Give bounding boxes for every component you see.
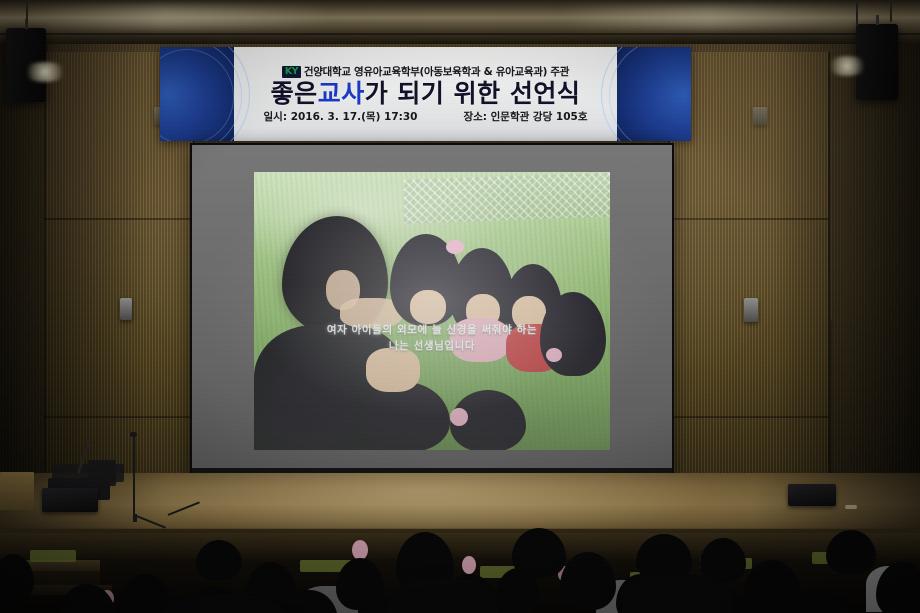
speaker-light-left-icon <box>22 62 68 82</box>
ky-logo-icon: KY <box>282 66 301 78</box>
banner-date: 일시: 2016. 3. 17.(목) 17:30 <box>264 109 418 124</box>
ceiling-seam <box>0 33 920 35</box>
mic-stand-pole <box>133 437 135 515</box>
audience-shoulders-3 <box>622 574 732 613</box>
mic-head-icon <box>130 432 137 437</box>
wall-mounted-box-left-icon <box>120 298 132 320</box>
balloon-2 <box>462 556 476 574</box>
audience-head-1 <box>0 554 34 602</box>
audience-head-5 <box>196 540 242 580</box>
audience-head-18 <box>58 584 116 613</box>
event-banner: KY 건양대학교 영유아교육학부(아동보육학과 & 유아교육과) 주관 좋은교사… <box>160 47 691 141</box>
projection-screen: 여자 아이들의 외모에 늘 신경을 써줘야 하는 나는 선생님입니다 <box>190 143 674 479</box>
banner-place: 장소: 인문학관 강당 105호 <box>463 109 587 124</box>
stage-gear-left-3-icon <box>88 460 116 486</box>
audience-head-16 <box>826 530 876 574</box>
wall-fixture-right-icon <box>753 107 767 125</box>
audience-shoulders-2 <box>388 578 498 613</box>
banner-title-part1: 좋은 <box>271 79 318 108</box>
audience-head-14 <box>700 538 746 582</box>
speaker-rod-left <box>26 0 28 28</box>
screen-surface: 여자 아이들의 외모에 늘 신경을 써줘야 하는 나는 선생님입니다 <box>192 145 672 477</box>
banner-title-accent: 교사 <box>318 79 365 108</box>
stage-floor-sheen <box>0 473 920 533</box>
banner-decor-left <box>160 47 234 141</box>
chair-1 <box>30 550 76 562</box>
banner-content: KY 건양대학교 영유아교육학부(아동보육학과 & 유아교육과) 주관 좋은교사… <box>232 47 619 141</box>
stage-monitor-left-icon <box>42 488 98 512</box>
balloon-1 <box>352 540 368 560</box>
banner-organizer-line: KY 건양대학교 영유아교육학부(아동보육학과 & 유아교육과) 주관 <box>282 64 569 79</box>
audience-head-2 <box>120 574 172 613</box>
banner-details: 일시: 2016. 3. 17.(목) 17:30 장소: 인문학관 강당 10… <box>264 109 588 124</box>
banner-title: 좋은교사가 되기 위한 선언식 <box>271 81 581 106</box>
banner-title-part2: 가 되기 위한 선언식 <box>365 79 581 108</box>
equipment-case-icon <box>0 472 34 510</box>
speaker-rod-right <box>856 0 858 26</box>
audience-head-11 <box>560 552 616 610</box>
speaker-light-right-icon <box>826 56 868 76</box>
screen-glow <box>192 145 672 477</box>
speaker-bracket-right <box>876 15 879 25</box>
banner-decor-right <box>617 47 691 141</box>
banner-organizer-text: 건양대학교 영유아교육학부(아동보육학과 & 유아교육과) 주관 <box>304 64 569 79</box>
stage-debris <box>845 505 857 509</box>
ceiling <box>0 0 920 46</box>
stage-monitor-right-icon <box>788 484 836 506</box>
banner-swoosh-5 <box>609 47 691 141</box>
speaker-rod-right-2 <box>890 0 892 22</box>
wall-mounted-box-right-icon <box>744 298 758 322</box>
audience-area <box>0 528 920 613</box>
auditorium-scene: KY 건양대학교 영유아교육학부(아동보육학과 & 유아교육과) 주관 좋은교사… <box>0 0 920 613</box>
mic-stand-leg-3 <box>133 514 137 522</box>
audience-head-15 <box>744 560 800 613</box>
